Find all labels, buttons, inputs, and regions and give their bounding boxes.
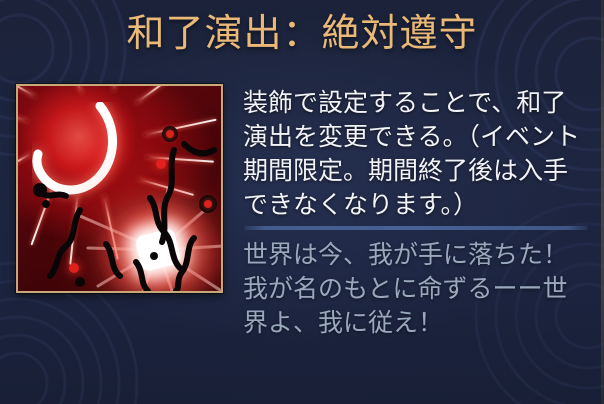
item-thumbnail-frame[interactable] [16,84,223,293]
item-detail-panel: 和了演出：絶対遵守 [0,0,604,404]
section-divider [244,226,588,230]
item-thumbnail-artwork [18,86,221,291]
page-title: 和了演出：絶対遵守 [0,6,604,60]
black-tendrils [18,86,221,291]
item-description: 装飾で設定することで、和了演出を変更できる。（イベント期間限定。期間終了後は入手… [243,86,591,222]
item-flavor-text: 世界は今、我が手に落ちた！我が名のもとに命ずるーー世界よ、我に従え！ [243,238,591,340]
